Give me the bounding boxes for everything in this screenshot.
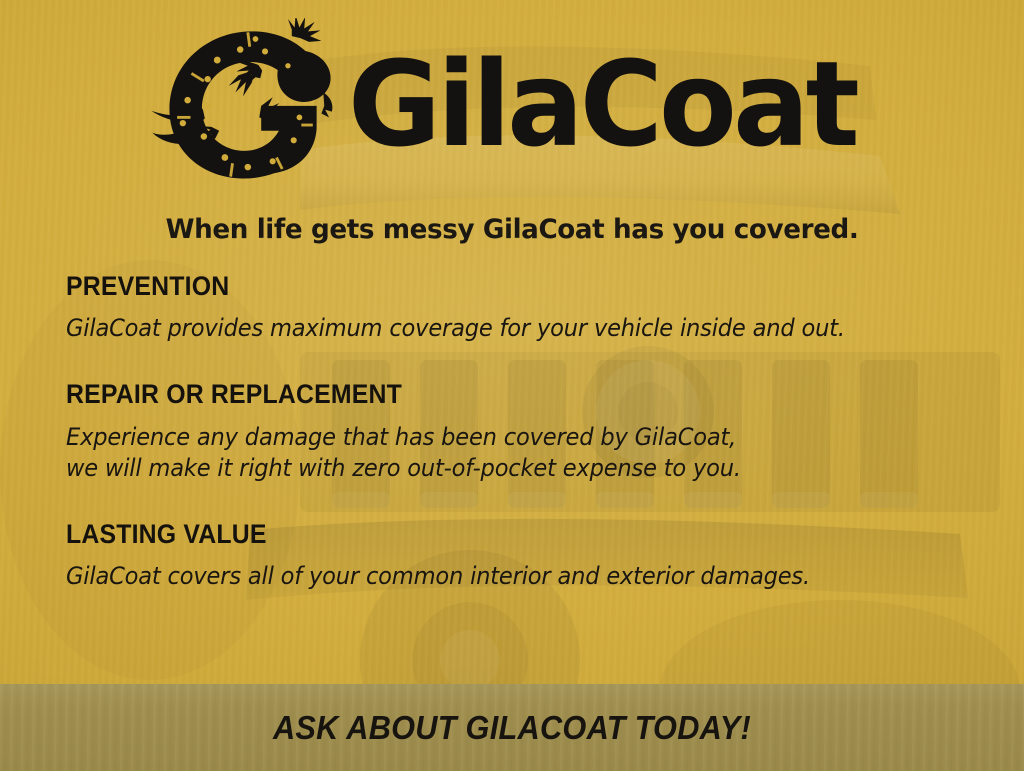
benefit-section-repair-or-replacement: REPAIR OR REPLACEMENT Experience any dam…: [66, 380, 966, 484]
section-heading: PREVENTION: [66, 272, 894, 301]
footer-banner: ASK ABOUT GILACOAT TODAY!: [0, 684, 1024, 771]
brand-tagline: When life gets messy GilaCoat has you co…: [15, 214, 1008, 245]
benefit-section-lasting-value: LASTING VALUE GilaCoat covers all of you…: [66, 520, 966, 592]
benefits-list: PREVENTION GilaCoat provides maximum cov…: [66, 272, 966, 592]
body-line: GilaCoat provides maximum coverage for y…: [66, 313, 912, 344]
gilacoat-promo-poster: GilaCoat When life gets messy GilaCoat h…: [0, 0, 1024, 771]
call-to-action-text: ASK ABOUT GILACOAT TODAY!: [36, 684, 988, 771]
poster-header: GilaCoat When life gets messy GilaCoat h…: [0, 18, 1024, 190]
section-heading: REPAIR OR REPLACEMENT: [66, 380, 894, 409]
section-body: GilaCoat covers all of your common inter…: [66, 561, 912, 592]
section-heading: LASTING VALUE: [66, 520, 894, 549]
brand-wordmark: GilaCoat: [348, 45, 856, 163]
section-body: GilaCoat provides maximum coverage for y…: [66, 313, 912, 344]
section-body: Experience any damage that has been cove…: [66, 422, 912, 484]
body-line: Experience any damage that has been cove…: [66, 422, 912, 453]
body-line: GilaCoat covers all of your common inter…: [66, 561, 912, 592]
brand-lockup: GilaCoat: [0, 18, 1024, 190]
benefit-section-prevention: PREVENTION GilaCoat provides maximum cov…: [66, 272, 966, 344]
body-line: we will make it right with zero out-of-p…: [66, 453, 912, 484]
gila-monster-g-icon: [146, 18, 342, 190]
